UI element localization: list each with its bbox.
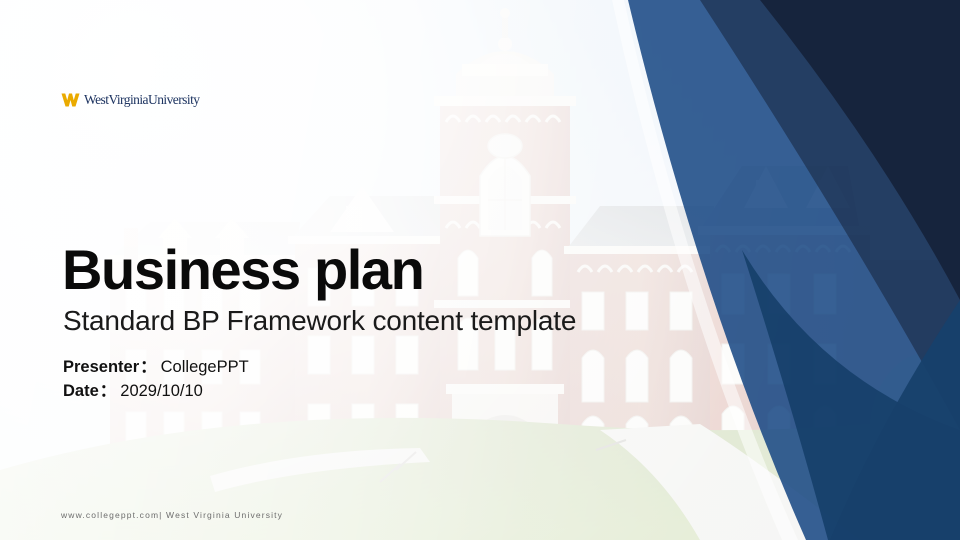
- presentation-slide: WestVirginiaUniversity Business plan Sta…: [0, 0, 960, 540]
- presenter-separator: ：: [139, 356, 158, 380]
- slide-title: Business plan: [62, 241, 423, 300]
- slide-subtitle: Standard BP Framework content template: [63, 304, 576, 338]
- date-row: Date ： 2029/10/10: [63, 380, 249, 404]
- slide-content: WestVirginiaUniversity Business plan Sta…: [0, 0, 960, 540]
- footer-credit: www.collegeppt.com| West Virginia Univer…: [61, 510, 283, 520]
- flying-wv-icon: [61, 92, 80, 108]
- presentation-meta: Presenter ： CollegePPT Date ： 2029/10/10: [63, 356, 249, 404]
- presenter-row: Presenter ： CollegePPT: [63, 356, 249, 380]
- wvu-logo: WestVirginiaUniversity: [61, 90, 200, 110]
- date-value: 2029/10/10: [120, 380, 203, 404]
- date-label: Date: [63, 380, 99, 404]
- date-separator: ：: [99, 380, 118, 404]
- wvu-logo-text: WestVirginiaUniversity: [84, 93, 200, 107]
- presenter-value: CollegePPT: [161, 356, 249, 380]
- presenter-label: Presenter: [63, 356, 139, 380]
